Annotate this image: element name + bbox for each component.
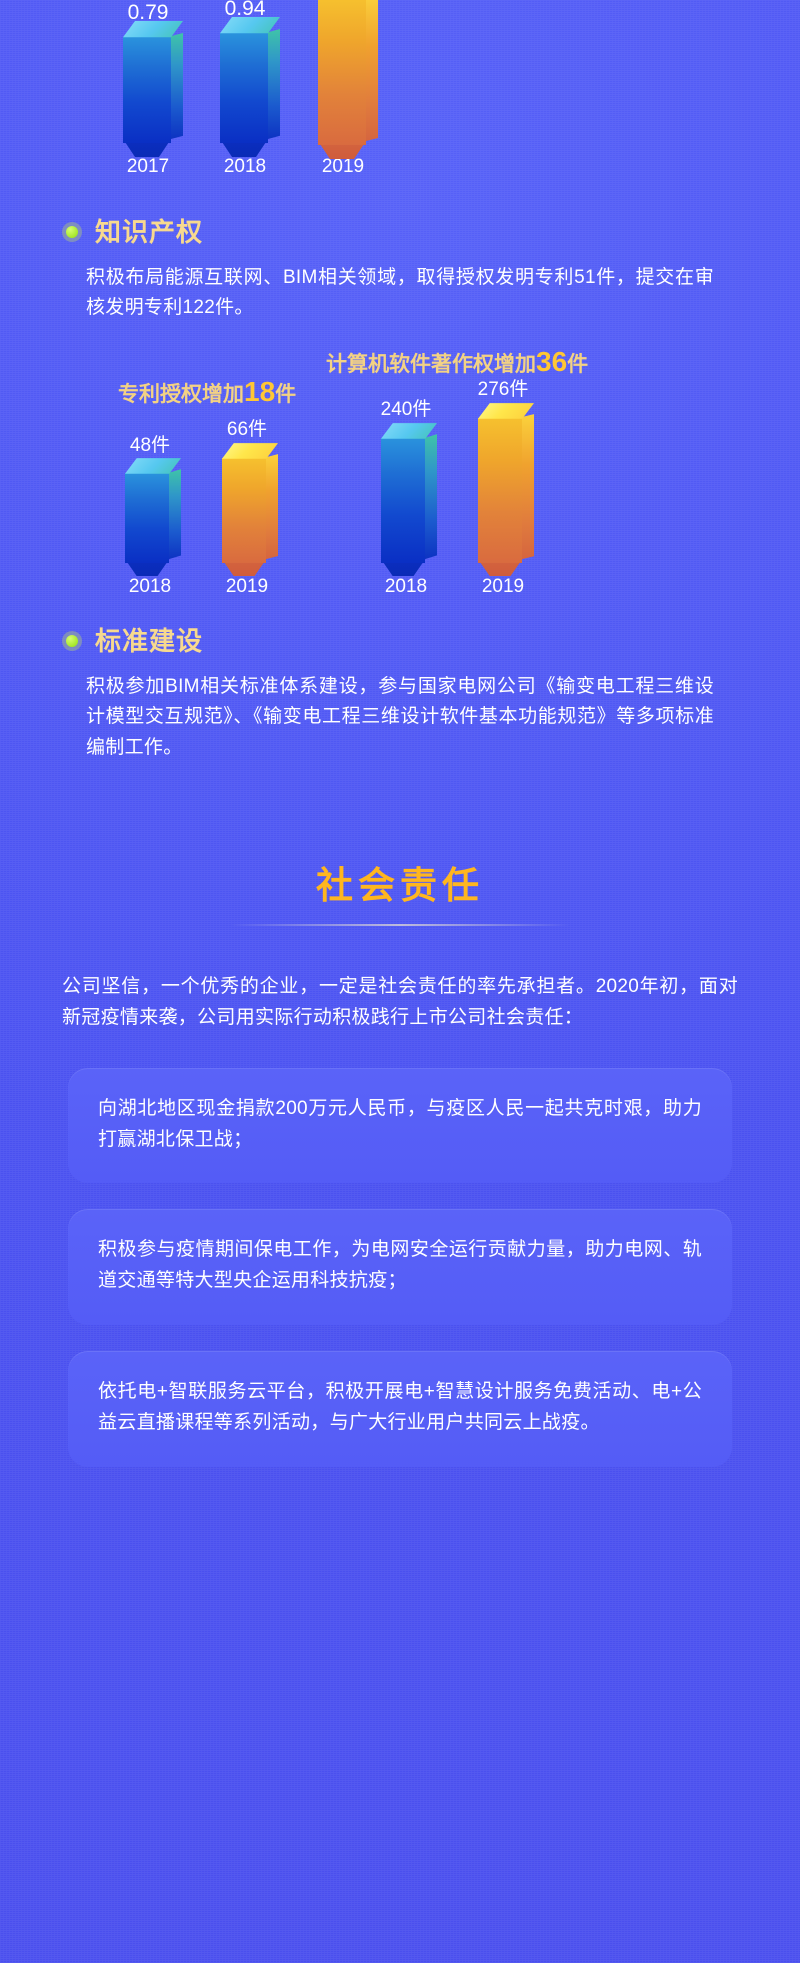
bar-software-2018: [381, 438, 425, 563]
caption-suffix: 件: [567, 353, 588, 376]
social-card: 依托电+智联服务云平台，积极开展电+智慧设计服务免费活动、电+公益云直播课程等系…: [68, 1351, 732, 1467]
caption-number: 36: [536, 346, 567, 377]
social-card: 向湖北地区现金捐款200万元人民币，与疫区人民一起共克时艰，助力打赢湖北保卫战；: [68, 1068, 732, 1184]
title-divider: [230, 924, 570, 926]
bar-year-label: 2018: [366, 577, 446, 596]
bar-value-label: 276件: [461, 380, 545, 399]
bar-front-face: [478, 418, 522, 563]
section-heading-ip: 知识产权: [0, 218, 800, 247]
bar-value-label: 0.94: [205, 0, 285, 19]
bar-side-face: [171, 33, 183, 139]
social-cards: 向湖北地区现金捐款200万元人民币，与疫区人民一起共克时艰，助力打赢湖北保卫战；…: [0, 1068, 800, 1467]
bar-year-label: 2017: [108, 157, 188, 176]
section-paragraph-ip: 积极布局能源互联网、BIM相关领域，取得授权发明专利51件，提交在审核发明专利1…: [0, 263, 800, 325]
bar-side-face: [425, 434, 437, 559]
social-card-text: 依托电+智联服务云平台，积极开展电+智慧设计服务免费活动、电+公益云直播课程等系…: [98, 1377, 702, 1439]
social-intro-paragraph: 公司坚信，一个优秀的企业，一定是社会责任的率先承担者。2020年初，面对新冠疫情…: [0, 972, 800, 1034]
bar-front-face: [220, 33, 268, 143]
bar-year-label: 2019: [463, 577, 543, 596]
chart-caption-software-copyright: 计算机软件著作权增加36件: [326, 348, 588, 376]
bar-front-face: [318, 0, 366, 145]
bar-year-label: 2018: [110, 577, 190, 596]
section-paragraph-standards: 积极参加BIM相关标准体系建设，参与国家电网公司《输变电工程三维设计模型交互规范…: [0, 672, 800, 764]
social-card: 积极参与疫情期间保电工作，为电网安全运行贡献力量，助力电网、轨道交通等特大型央企…: [68, 1209, 732, 1325]
bar-year-label: 2019: [207, 577, 287, 596]
bar-side-face: [266, 454, 278, 559]
bar-2018: [220, 33, 268, 143]
bar-value-label: 48件: [110, 436, 190, 455]
section-intellectual-property: 知识产权 积极布局能源互联网、BIM相关领域，取得授权发明专利51件，提交在审核…: [0, 218, 800, 613]
social-card-text: 积极参与疫情期间保电工作，为电网安全运行贡献力量，助力电网、轨道交通等特大型央企…: [98, 1235, 702, 1297]
bar-side-face: [522, 414, 534, 559]
caption-prefix: 专利授权增加: [118, 383, 244, 406]
bar-front-face: [222, 458, 266, 563]
bar-front-face: [123, 37, 171, 143]
bar-side-face: [366, 0, 378, 141]
ip-charts-row: 计算机软件著作权增加36件 专利授权增加18件 48件 2018 66件: [0, 348, 800, 613]
bar-year-label: 2018: [205, 157, 285, 176]
bar-year-label: 2019: [303, 157, 383, 176]
revenue-bar-chart: 0.79 0.94 2017 2018 2019: [0, 0, 800, 196]
bar-front-face: [381, 438, 425, 563]
green-dot-icon: [62, 222, 82, 242]
chart-caption-patent-grants: 专利授权增加18件: [118, 378, 296, 406]
section-heading-standards: 标准建设: [0, 627, 800, 656]
bar-2017: [123, 37, 171, 143]
social-card-text: 向湖北地区现金捐款200万元人民币，与疫区人民一起共克时艰，助力打赢湖北保卫战；: [98, 1094, 702, 1156]
bar-patent-2018: [125, 473, 169, 563]
bar-software-2019: [478, 418, 522, 563]
section-title-text: 标准建设: [95, 627, 203, 656]
section-title-text: 知识产权: [95, 218, 203, 247]
caption-number: 18: [244, 376, 275, 407]
bar-value-label: 240件: [364, 400, 448, 419]
bar-front-face: [125, 473, 169, 563]
bar-side-face: [268, 29, 280, 139]
bar-side-face: [169, 469, 181, 559]
green-dot-icon: [62, 631, 82, 651]
bar-2019: [318, 0, 366, 145]
caption-suffix: 件: [275, 383, 296, 406]
bar-value-label: 66件: [207, 420, 287, 439]
bar-value-label: 0.79: [108, 2, 188, 23]
social-responsibility-title-block: 社会责任: [0, 864, 800, 926]
section-standards: 标准建设 积极参加BIM相关标准体系建设，参与国家电网公司《输变电工程三维设计模…: [0, 627, 800, 764]
bar-patent-2019: [222, 458, 266, 563]
page-title: 社会责任: [0, 864, 800, 908]
infographic-content: 0.79 0.94 2017 2018 2019: [0, 0, 800, 1467]
caption-prefix: 计算机软件著作权增加: [326, 353, 536, 376]
